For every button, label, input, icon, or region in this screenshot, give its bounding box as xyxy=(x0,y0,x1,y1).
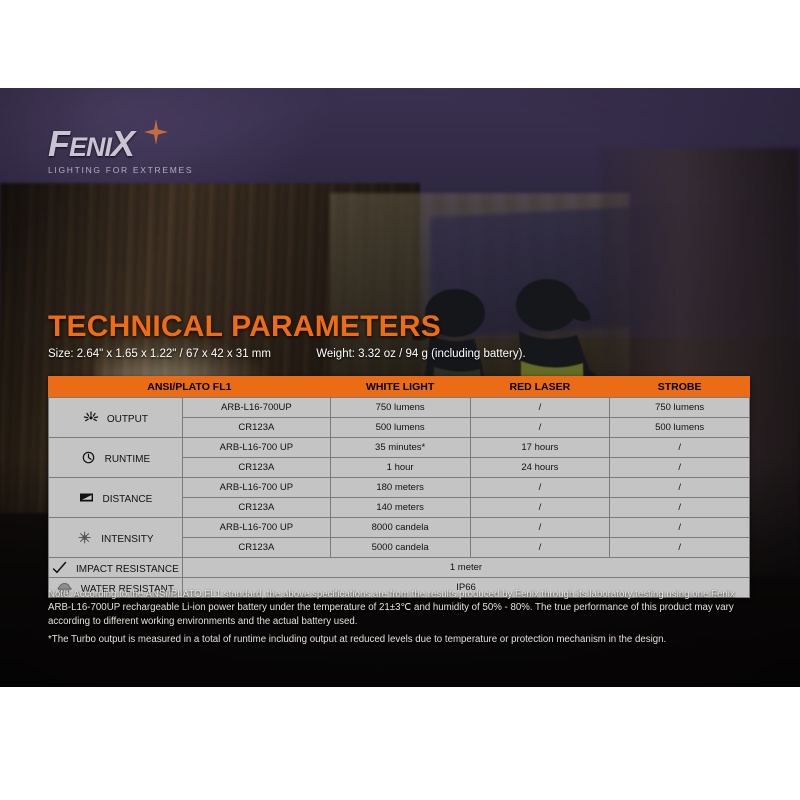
logo-letters-eni: ENI xyxy=(69,132,111,162)
logo-letter-x: X xyxy=(111,123,134,164)
cell-red: / xyxy=(470,538,610,558)
row-label-impact-resistance: IMPACT RESISTANCE xyxy=(49,558,183,578)
impact-check-icon xyxy=(52,561,68,574)
cell-battery: CR123A xyxy=(182,538,330,558)
footnote-paragraph-1: Note: According to the ANSI/PLATO FL1 st… xyxy=(48,588,754,628)
cell-red: / xyxy=(470,418,610,438)
cell-red: 17 hours xyxy=(470,438,610,458)
logo-wordmark: FENIX xyxy=(48,127,218,164)
table-row: IMPACT RESISTANCE 1 meter xyxy=(49,558,750,578)
row-label-distance: DISTANCE xyxy=(49,478,183,518)
header-strobe: STROBE xyxy=(610,377,750,398)
cell-red: / xyxy=(470,498,610,518)
cell-strobe: / xyxy=(610,518,750,538)
cell-white: 1 hour xyxy=(330,458,470,478)
output-burst-icon xyxy=(83,411,99,424)
header-ansi-plato: ANSI/PLATO FL1 xyxy=(49,377,331,398)
row-label-output: OUTPUT xyxy=(49,398,183,438)
cell-battery: ARB-L16-700 UP xyxy=(182,518,330,538)
cell-battery: CR123A xyxy=(182,498,330,518)
cell-white: 35 minutes* xyxy=(330,438,470,458)
header-red-laser: RED LASER xyxy=(470,377,610,398)
row-label-text: INTENSITY xyxy=(101,534,153,545)
cell-red: / xyxy=(470,518,610,538)
fenix-logo: FENIX LIGHTING FOR EXTREMES xyxy=(48,127,218,175)
cell-battery: ARB-L16-700 UP xyxy=(182,438,330,458)
cell-white: 500 lumens xyxy=(330,418,470,438)
table-header-row: ANSI/PLATO FL1 WHITE LIGHT RED LASER STR… xyxy=(49,377,750,398)
intensity-star-icon xyxy=(77,531,93,544)
cell-red: 24 hours xyxy=(470,458,610,478)
page-title: TECHNICAL PARAMETERS xyxy=(48,310,441,344)
cell-battery: ARB-L16-700 UP xyxy=(182,478,330,498)
dimensions-line: Size: 2.64" x 1.65 x 1.22" / 67 x 42 x 3… xyxy=(48,348,748,360)
row-label-intensity: INTENSITY xyxy=(49,518,183,558)
beam-distance-icon xyxy=(79,491,95,504)
cell-battery: CR123A xyxy=(182,458,330,478)
size-text: Size: 2.64" x 1.65 x 1.22" / 67 x 42 x 3… xyxy=(48,348,313,360)
cell-red: / xyxy=(470,398,610,418)
cell-strobe: 750 lumens xyxy=(610,398,750,418)
table-row: DISTANCE ARB-L16-700 UP 180 meters / / xyxy=(49,478,750,498)
cell-strobe: 500 lumens xyxy=(610,418,750,438)
logo-tagline: LIGHTING FOR EXTREMES xyxy=(48,165,218,175)
footnote-block: Note: According to the ANSI/PLATO FL1 st… xyxy=(48,588,754,646)
clock-icon xyxy=(81,451,97,464)
table-row: INTENSITY ARB-L16-700 UP 8000 candela / … xyxy=(49,518,750,538)
cell-strobe: / xyxy=(610,458,750,478)
cell-white: 750 lumens xyxy=(330,398,470,418)
row-label-text: OUTPUT xyxy=(107,414,148,425)
row-label-runtime: RUNTIME xyxy=(49,438,183,478)
cell-strobe: / xyxy=(610,438,750,458)
technical-parameters-table: ANSI/PLATO FL1 WHITE LIGHT RED LASER STR… xyxy=(48,376,750,598)
logo-letter-f: F xyxy=(48,123,69,164)
table-row: OUTPUT ARB-L16-700UP 750 lumens / 750 lu… xyxy=(49,398,750,418)
cell-white: 5000 candela xyxy=(330,538,470,558)
cell-white: 8000 candela xyxy=(330,518,470,538)
header-white-light: WHITE LIGHT xyxy=(330,377,470,398)
weight-text: Weight: 3.32 oz / 94 g (including batter… xyxy=(316,348,525,360)
row-label-text: RUNTIME xyxy=(105,454,151,465)
cell-red: / xyxy=(470,478,610,498)
row-label-text: DISTANCE xyxy=(102,494,152,505)
cell-strobe: / xyxy=(610,538,750,558)
table-row: RUNTIME ARB-L16-700 UP 35 minutes* 17 ho… xyxy=(49,438,750,458)
cell-strobe: / xyxy=(610,478,750,498)
cell-impact-value: 1 meter xyxy=(182,558,749,578)
cell-strobe: / xyxy=(610,498,750,518)
footnote-paragraph-2: *The Turbo output is measured in a total… xyxy=(48,633,754,646)
row-label-text: IMPACT RESISTANCE xyxy=(76,564,179,575)
cell-battery: CR123A xyxy=(182,418,330,438)
cell-battery: ARB-L16-700UP xyxy=(182,398,330,418)
cell-white: 140 meters xyxy=(330,498,470,518)
cell-white: 180 meters xyxy=(330,478,470,498)
